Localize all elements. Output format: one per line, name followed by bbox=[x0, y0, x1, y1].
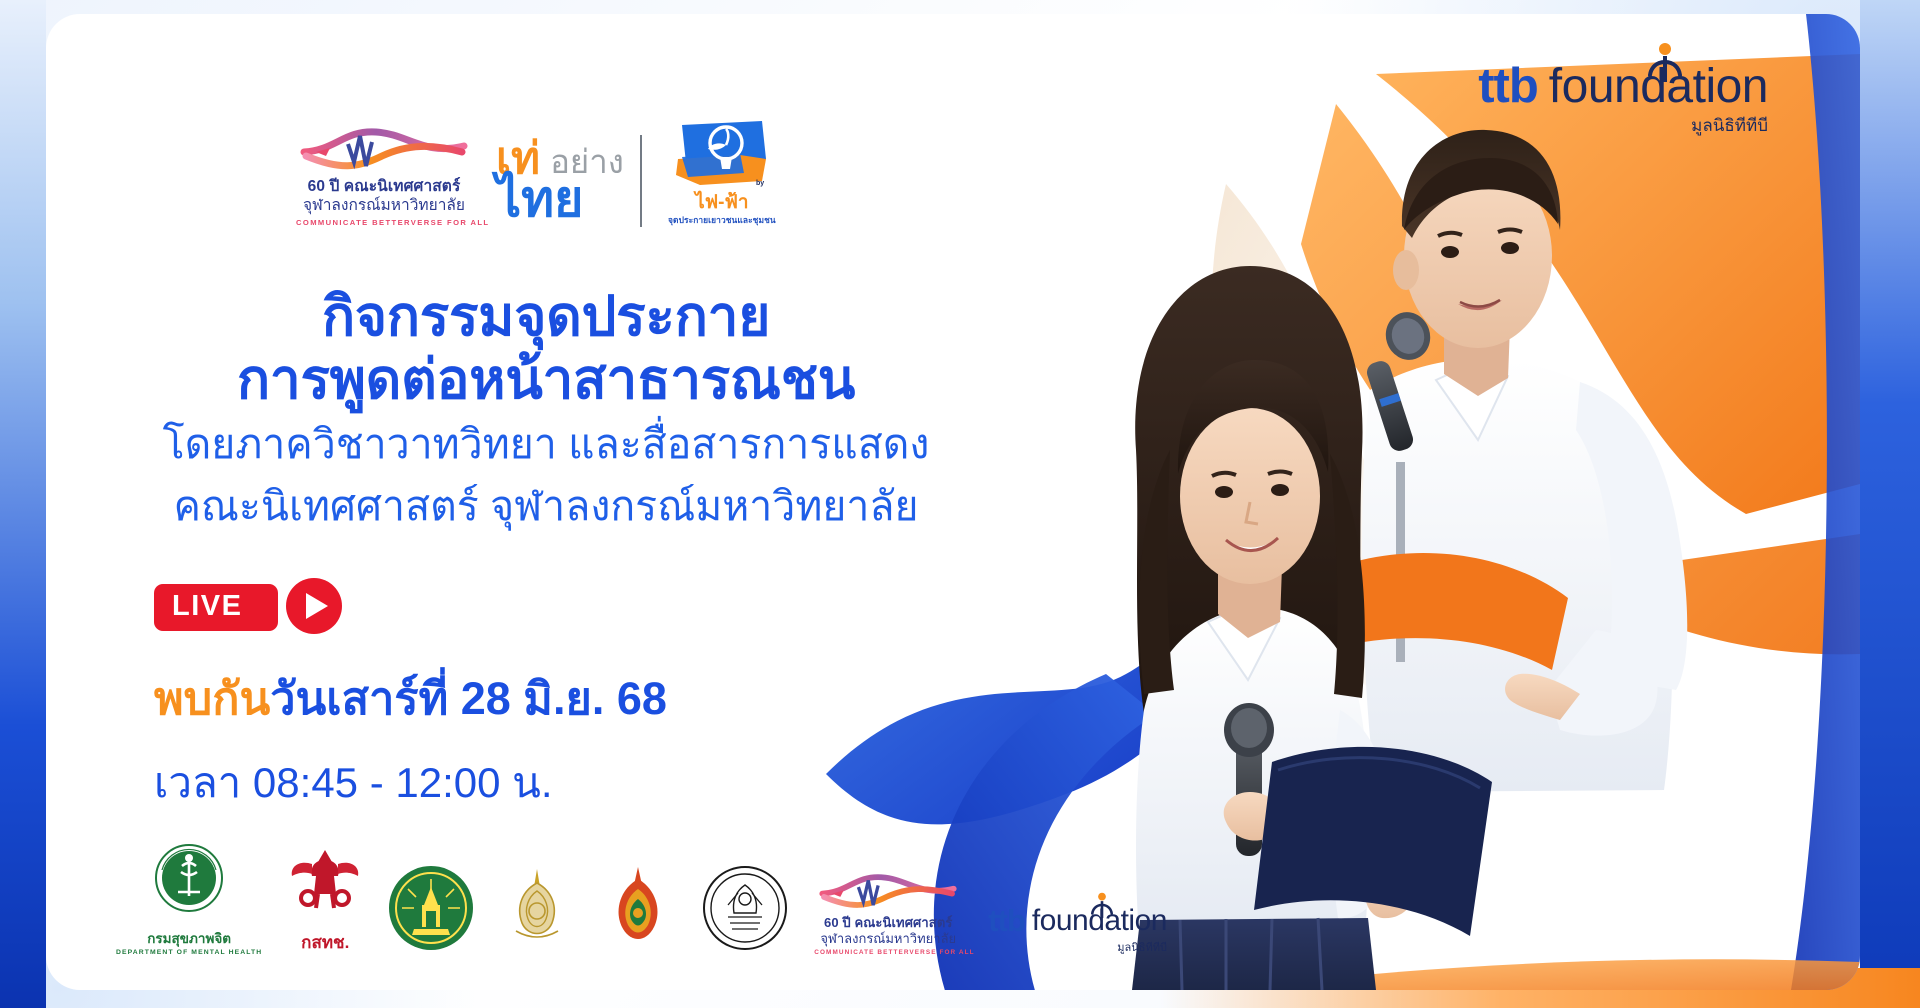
partner-logo-1: กสทช. bbox=[288, 842, 362, 956]
faifa-tagline: จุดประกายเยาวชนและชุมชน bbox=[666, 213, 778, 227]
ttb-foundation-thai-sub-footer: มูลนิธิทีทีบี bbox=[988, 938, 1167, 956]
ttb-brand-text-footer: ttb bbox=[988, 903, 1025, 939]
red-ornament-seal-icon bbox=[600, 865, 676, 951]
ttb-foundation-logo-footer: ttb foundation มูลนิธิทีทีบี bbox=[988, 903, 1167, 956]
partner-logo-5 bbox=[702, 865, 788, 956]
schedule-time: เวลา 08:45 - 12:00 น. bbox=[154, 750, 667, 816]
play-button-circle[interactable] bbox=[286, 578, 342, 634]
logo-divider bbox=[640, 135, 642, 227]
headline-block: กิจกรรมจุดประกาย การพูดต่อหน้าสาธารณชน โ… bbox=[46, 286, 1046, 532]
poster-canvas: ttb foundation มูลนิธิทีทีบี bbox=[0, 0, 1920, 1008]
chula-60-logo-bottom: 60 ปี คณะนิเทศศาสตร์ จุฬาลงกรณ์มหาวิทยาล… bbox=[814, 869, 962, 956]
chula-wave-icon bbox=[296, 122, 472, 178]
nbtc-garuda-icon bbox=[288, 842, 362, 924]
headline-line-1: กิจกรรมจุดประกาย bbox=[46, 286, 1046, 347]
schedule-date-line: พบกันวันเสาร์ที่ 28 มิ.ย. 68 bbox=[154, 662, 667, 734]
tae-yang-thai-logo: เท่ อย่าง ไทย bbox=[496, 135, 642, 227]
partner-logo-row-bottom: กรมสุขภาพจิต DEPARTMENT OF MENTAL HEALTH… bbox=[116, 840, 1167, 956]
student-boy bbox=[1362, 130, 1687, 792]
chula-logo-line1-bottom: 60 ปี คณะนิเทศศาสตร์ bbox=[814, 915, 962, 930]
schedule-block: พบกันวันเสาร์ที่ 28 มิ.ย. 68 เวลา 08:45 … bbox=[154, 662, 667, 816]
chula-logo-line1: 60 ปี คณะนิเทศศาสตร์ bbox=[296, 178, 472, 196]
play-icon bbox=[306, 593, 328, 619]
university-seal-icon bbox=[702, 865, 788, 951]
faifa-logo: by ไฟ-ฟ้า จุดประกายเยาวชนและชุมชน bbox=[666, 119, 778, 227]
department-of-cultural-promotion-icon bbox=[388, 865, 474, 951]
gold-ornament-seal-icon bbox=[500, 865, 574, 951]
poster-card: ttb foundation มูลนิธิทีทีบี bbox=[46, 14, 1860, 990]
right-blue-edge bbox=[1860, 0, 1920, 1008]
partner-logo-row-top: 60 ปี คณะนิเทศศาสตร์ จุฬาลงกรณ์มหาวิทยาล… bbox=[296, 119, 778, 227]
headline-sub-line-2: คณะนิเทศศาสตร์ จุฬาลงกรณ์มหาวิทยาลัย bbox=[46, 481, 1046, 533]
live-badge-wrap[interactable]: LIVE bbox=[154, 584, 278, 631]
faifa-name: ไฟ-ฟ้า bbox=[666, 193, 778, 213]
svg-text:by: by bbox=[756, 180, 764, 187]
department-of-mental-health-icon bbox=[148, 840, 230, 920]
sprout-icon-footer bbox=[1091, 892, 1113, 918]
partner-caption-th-1: กสทช. bbox=[288, 929, 362, 956]
partner-caption-en-0: DEPARTMENT OF MENTAL HEALTH bbox=[116, 949, 262, 956]
partner-logo-2 bbox=[388, 865, 474, 956]
live-badge[interactable]: LIVE bbox=[154, 584, 278, 631]
partner-logo-4 bbox=[600, 865, 676, 956]
schedule-date: วันเสาร์ที่ 28 มิ.ย. 68 bbox=[270, 673, 667, 724]
chula-wave-icon-bottom bbox=[814, 869, 962, 915]
headline-sub-line-1: โดยภาควิชาวาทวิทยา และสื่อสารการแสดง bbox=[46, 419, 1046, 471]
left-blue-edge bbox=[0, 0, 46, 1008]
schedule-prefix: พบกัน bbox=[154, 673, 270, 724]
chula-60-logo: 60 ปี คณะนิเทศศาสตร์ จุฬาลงกรณ์มหาวิทยาล… bbox=[296, 122, 472, 227]
chula-logo-line2-bottom: จุฬาลงกรณ์มหาวิทยาลัย bbox=[814, 931, 962, 946]
partner-logo-0: กรมสุขภาพจิต DEPARTMENT OF MENTAL HEALTH bbox=[116, 840, 262, 956]
live-label: LIVE bbox=[154, 584, 278, 631]
lightbulb-brush-icon: by bbox=[670, 119, 774, 193]
partner-logo-3 bbox=[500, 865, 574, 956]
chula-logo-tagline-bottom: COMMUNICATE BETTERVERSE FOR ALL bbox=[814, 949, 962, 956]
chula-logo-tagline: COMMUNICATE BETTERVERSE FOR ALL bbox=[296, 218, 472, 227]
chula-logo-line2: จุฬาลงกรณ์มหาวิทยาลัย bbox=[296, 197, 472, 215]
headline-line-2: การพูดต่อหน้าสาธารณชน bbox=[46, 349, 1046, 410]
thai-word: ไทย bbox=[496, 176, 624, 223]
partner-caption-th-0: กรมสุขภาพจิต bbox=[116, 927, 262, 949]
